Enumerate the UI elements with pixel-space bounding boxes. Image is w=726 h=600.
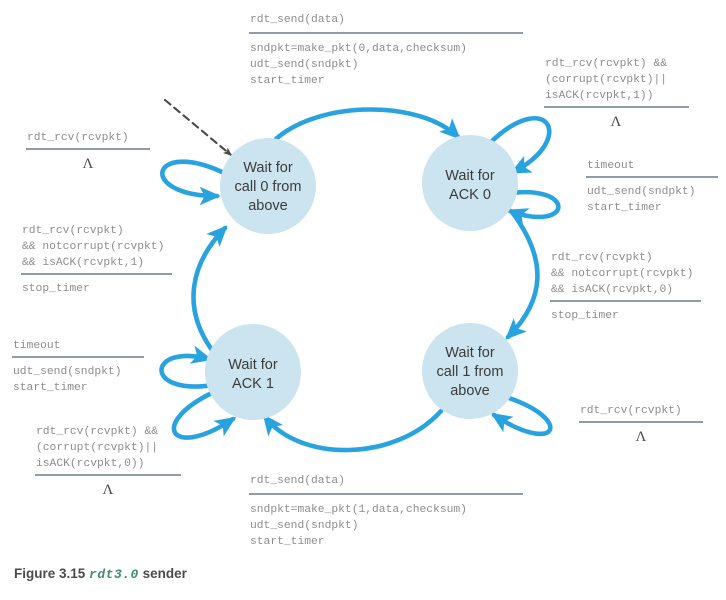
- label-event-line: timeout: [13, 340, 60, 352]
- state-label-line: Wait for: [243, 160, 293, 176]
- label-bottom-left: rdt_rcv(rcvpkt) && (corrupt(rcvpkt)|| is…: [35, 426, 181, 498]
- label-lambda: Λ: [103, 482, 114, 498]
- label-event-line: timeout: [587, 160, 634, 172]
- state-label-line: above: [248, 198, 288, 214]
- label-event-line: rdt_send(data): [250, 475, 345, 487]
- label-top-center: rdt_send(data) sndpkt=make_pkt(0,data,ch…: [249, 14, 523, 87]
- label-event-line: && notcorrupt(rcvpkt): [22, 241, 164, 253]
- label-event-line: rdt_rcv(rcvpkt): [27, 132, 129, 144]
- label-top-right: rdt_rcv(rcvpkt) && (corrupt(rcvpkt)|| is…: [544, 58, 689, 130]
- label-action-line: udt_send(sndpkt): [250, 59, 358, 71]
- state-label-line: Wait for: [228, 357, 278, 373]
- fsm-canvas: Wait for call 0 from above Wait for ACK …: [0, 0, 726, 600]
- label-event-line: rdt_rcv(rcvpkt) &&: [36, 426, 158, 438]
- label-event-line: rdt_rcv(rcvpkt): [580, 405, 682, 417]
- label-action-line: udt_send(sndpkt): [250, 520, 358, 532]
- arc-call1-to-ack1: [265, 411, 441, 450]
- label-action-line: start_timer: [13, 382, 88, 394]
- label-event-line: isACK(rcvpkt,0)): [36, 458, 144, 470]
- arc-ack0-to-call1: [508, 212, 537, 337]
- state-label-line: Wait for: [445, 168, 495, 184]
- state-label-line: call 1 from: [437, 364, 504, 380]
- label-event-line: isACK(rcvpkt,1)): [545, 90, 653, 102]
- arc-call0-to-ack0: [276, 109, 458, 139]
- label-action-line: sndpkt=make_pkt(1,data,checksum): [250, 504, 467, 516]
- state-label-line: Wait for: [445, 345, 495, 361]
- label-event-line: && isACK(rcvpkt,1): [22, 257, 144, 269]
- label-action-line: start_timer: [250, 536, 325, 548]
- state-wait-call-0[interactable]: Wait for call 0 from above: [220, 138, 316, 234]
- state-wait-ack-1[interactable]: Wait for ACK 1: [205, 324, 301, 420]
- state-wait-call-1[interactable]: Wait for call 1 from above: [422, 323, 518, 419]
- label-left-upper: rdt_rcv(rcvpkt) && notcorrupt(rcvpkt) &&…: [21, 225, 172, 295]
- label-event-line: (corrupt(rcvpkt)||: [36, 442, 158, 454]
- label-lambda: Λ: [83, 156, 94, 172]
- figure-caption-suffix: sender: [143, 566, 187, 581]
- label-event-line: && isACK(rcvpkt,0): [551, 284, 673, 296]
- label-action-line: udt_send(sndpkt): [13, 366, 121, 378]
- label-top-left: rdt_rcv(rcvpkt) Λ: [26, 132, 150, 172]
- state-label-line: above: [450, 383, 490, 399]
- label-action-line: udt_send(sndpkt): [587, 186, 695, 198]
- label-action-line: start_timer: [250, 75, 325, 87]
- label-left-middle: timeout udt_send(sndpkt) start_timer: [12, 340, 144, 394]
- state-nodes: Wait for call 0 from above Wait for ACK …: [205, 135, 518, 420]
- label-right-lower: rdt_rcv(rcvpkt) && notcorrupt(rcvpkt) &&…: [550, 252, 701, 322]
- arc-ack1-to-call0: [193, 228, 225, 350]
- label-lambda: Λ: [611, 114, 622, 130]
- label-event-line: rdt_rcv(rcvpkt) &&: [545, 58, 667, 70]
- label-event-line: rdt_rcv(rcvpkt): [551, 252, 653, 264]
- label-action-line: stop_timer: [551, 310, 619, 322]
- figure-caption-protocol: rdt3.0: [89, 567, 139, 582]
- figure-caption-prefix: Figure 3.15: [14, 566, 85, 581]
- label-event-line: && notcorrupt(rcvpkt): [551, 268, 693, 280]
- label-event-line: (corrupt(rcvpkt)||: [545, 74, 667, 86]
- label-action-line: sndpkt=make_pkt(0,data,checksum): [250, 43, 467, 55]
- label-action-line: stop_timer: [22, 283, 90, 295]
- state-label-line: ACK 1: [232, 376, 274, 392]
- state-label-line: call 0 from: [235, 179, 302, 195]
- figure-caption: Figure 3.15 rdt3.0 sender: [14, 566, 187, 582]
- label-lambda: Λ: [636, 429, 647, 445]
- label-right-middle: timeout udt_send(sndpkt) start_timer: [586, 160, 718, 214]
- label-action-line: start_timer: [587, 202, 662, 214]
- label-bottom-center: rdt_send(data) sndpkt=make_pkt(1,data,ch…: [249, 475, 523, 548]
- state-label-line: ACK 0: [449, 187, 491, 203]
- label-event-line: rdt_send(data): [250, 14, 345, 26]
- initial-state-arrow: [165, 100, 231, 155]
- state-wait-ack-0[interactable]: Wait for ACK 0: [422, 135, 518, 231]
- label-event-line: rdt_rcv(rcvpkt): [22, 225, 124, 237]
- selfloop-call0-rdtrcv: [162, 162, 222, 196]
- rdt3-sender-fsm-diagram: Wait for call 0 from above Wait for ACK …: [0, 0, 726, 600]
- label-bottom-right: rdt_rcv(rcvpkt) Λ: [579, 405, 703, 445]
